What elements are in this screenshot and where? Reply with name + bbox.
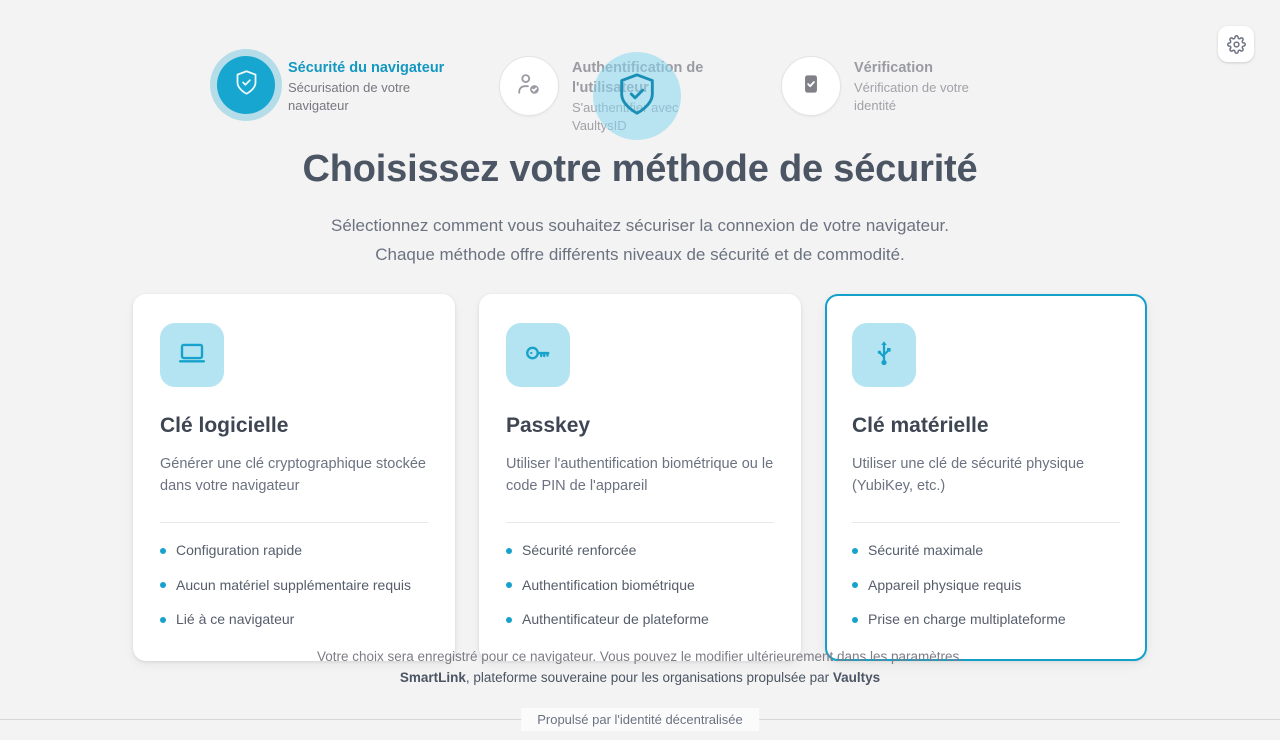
bullet-icon [506, 582, 512, 588]
list-item: Authentification biométrique [506, 576, 774, 596]
step-1-text: Sécurité du navigateur Sécurisation de v… [288, 55, 444, 114]
bullet-icon [506, 548, 512, 554]
list-item: Sécurité renforcée [506, 541, 774, 561]
page-title: Choisissez votre méthode de sécurité [0, 148, 1280, 191]
step-2-circle [499, 56, 559, 116]
method-description: Utiliser une clé de sécurité physique (Y… [852, 453, 1120, 498]
gear-icon [1227, 35, 1246, 54]
bullet-icon [852, 617, 858, 623]
passkey-icon-tile [506, 323, 570, 387]
feature-label: Authentificateur de plateforme [522, 610, 709, 630]
step-user-authentication[interactable]: Authentification de l'utilisateur S'auth… [499, 55, 781, 134]
step-1-circle [217, 56, 275, 114]
bullet-icon [852, 582, 858, 588]
step-verification[interactable]: Vérification Vérification de votre ident… [781, 55, 1063, 116]
feature-label: Configuration rapide [176, 541, 302, 561]
step-1-title: Sécurité du navigateur [288, 58, 444, 78]
progress-stepper: Sécurité du navigateur Sécurisation de v… [0, 55, 1280, 134]
step-3-circle [781, 56, 841, 116]
user-check-icon [516, 71, 542, 102]
method-card-software-key[interactable]: Clé logicielle Générer une clé cryptogra… [133, 294, 455, 661]
feature-label: Appareil physique requis [868, 576, 1021, 596]
list-item: Configuration rapide [160, 541, 428, 561]
feature-label: Aucun matériel supplémentaire requis [176, 576, 411, 596]
bottom-bar: Propulsé par l'identité décentralisée [0, 708, 1280, 740]
method-feature-list: Sécurité maximale Appareil physique requ… [852, 541, 1120, 630]
bullet-icon [852, 548, 858, 554]
feature-label: Sécurité maximale [868, 541, 983, 561]
list-item: Authentificateur de plateforme [506, 610, 774, 630]
feature-label: Sécurité renforcée [522, 541, 636, 561]
footer-choice-note: Votre choix sera enregistré pour ce navi… [0, 647, 1280, 668]
step-2-subtitle: S'authentifier avec VaultysID [572, 99, 702, 134]
step-2-text: Authentification de l'utilisateur S'auth… [572, 55, 781, 134]
card-divider [506, 522, 774, 523]
page-subtitle-line-1: Sélectionnez comment vous souhaitez sécu… [0, 211, 1280, 240]
security-method-cards: Clé logicielle Générer une clé cryptogra… [133, 294, 1147, 661]
list-item: Sécurité maximale [852, 541, 1120, 561]
method-description: Utiliser l'authentification biométrique … [506, 453, 774, 498]
key-icon [523, 338, 553, 373]
feature-label: Lié à ce navigateur [176, 610, 294, 630]
method-title: Clé logicielle [160, 414, 428, 438]
footer-brand-line: SmartLink, plateforme souveraine pour le… [0, 668, 1280, 689]
step-2-title: Authentification de l'utilisateur [572, 58, 781, 98]
bullet-icon [160, 582, 166, 588]
method-card-passkey[interactable]: Passkey Utiliser l'authentification biom… [479, 294, 801, 661]
list-item: Aucun matériel supplémentaire requis [160, 576, 428, 596]
usb-icon [869, 338, 899, 373]
method-title: Passkey [506, 414, 774, 438]
shield-check-icon [233, 69, 260, 101]
hardware-key-icon-tile [852, 323, 916, 387]
page-subtitle-line-2: Chaque méthode offre différents niveaux … [0, 240, 1280, 269]
card-divider [160, 522, 428, 523]
id-badge-check-icon [798, 71, 824, 102]
bullet-icon [506, 617, 512, 623]
method-description: Générer une clé cryptographique stockée … [160, 453, 428, 498]
footer-note: Votre choix sera enregistré pour ce navi… [0, 647, 1280, 688]
brand-vaultys: Vaultys [833, 670, 880, 685]
bullet-icon [160, 548, 166, 554]
bullet-icon [160, 617, 166, 623]
step-3-subtitle: Vérification de votre identité [854, 79, 984, 114]
list-item: Appareil physique requis [852, 576, 1120, 596]
laptop-icon [177, 338, 207, 373]
software-key-icon-tile [160, 323, 224, 387]
step-3-text: Vérification Vérification de votre ident… [854, 55, 984, 114]
brand-middle-text: , plateforme souveraine pour les organis… [466, 670, 833, 685]
feature-label: Prise en charge multiplateforme [868, 610, 1066, 630]
page-subtitle: Sélectionnez comment vous souhaitez sécu… [0, 211, 1280, 269]
method-title: Clé matérielle [852, 414, 1120, 438]
method-feature-list: Sécurité renforcée Authentification biom… [506, 541, 774, 630]
bottom-bar-label: Propulsé par l'identité décentralisée [521, 708, 759, 731]
step-3-title: Vérification [854, 58, 984, 78]
list-item: Prise en charge multiplateforme [852, 610, 1120, 630]
list-item: Lié à ce navigateur [160, 610, 428, 630]
method-feature-list: Configuration rapide Aucun matériel supp… [160, 541, 428, 630]
feature-label: Authentification biométrique [522, 576, 695, 596]
brand-smartlink: SmartLink [400, 670, 466, 685]
step-browser-security[interactable]: Sécurité du navigateur Sécurisation de v… [217, 55, 499, 114]
step-1-subtitle: Sécurisation de votre navigateur [288, 79, 418, 114]
card-divider [852, 522, 1120, 523]
method-card-hardware-key[interactable]: Clé matérielle Utiliser une clé de sécur… [825, 294, 1147, 661]
